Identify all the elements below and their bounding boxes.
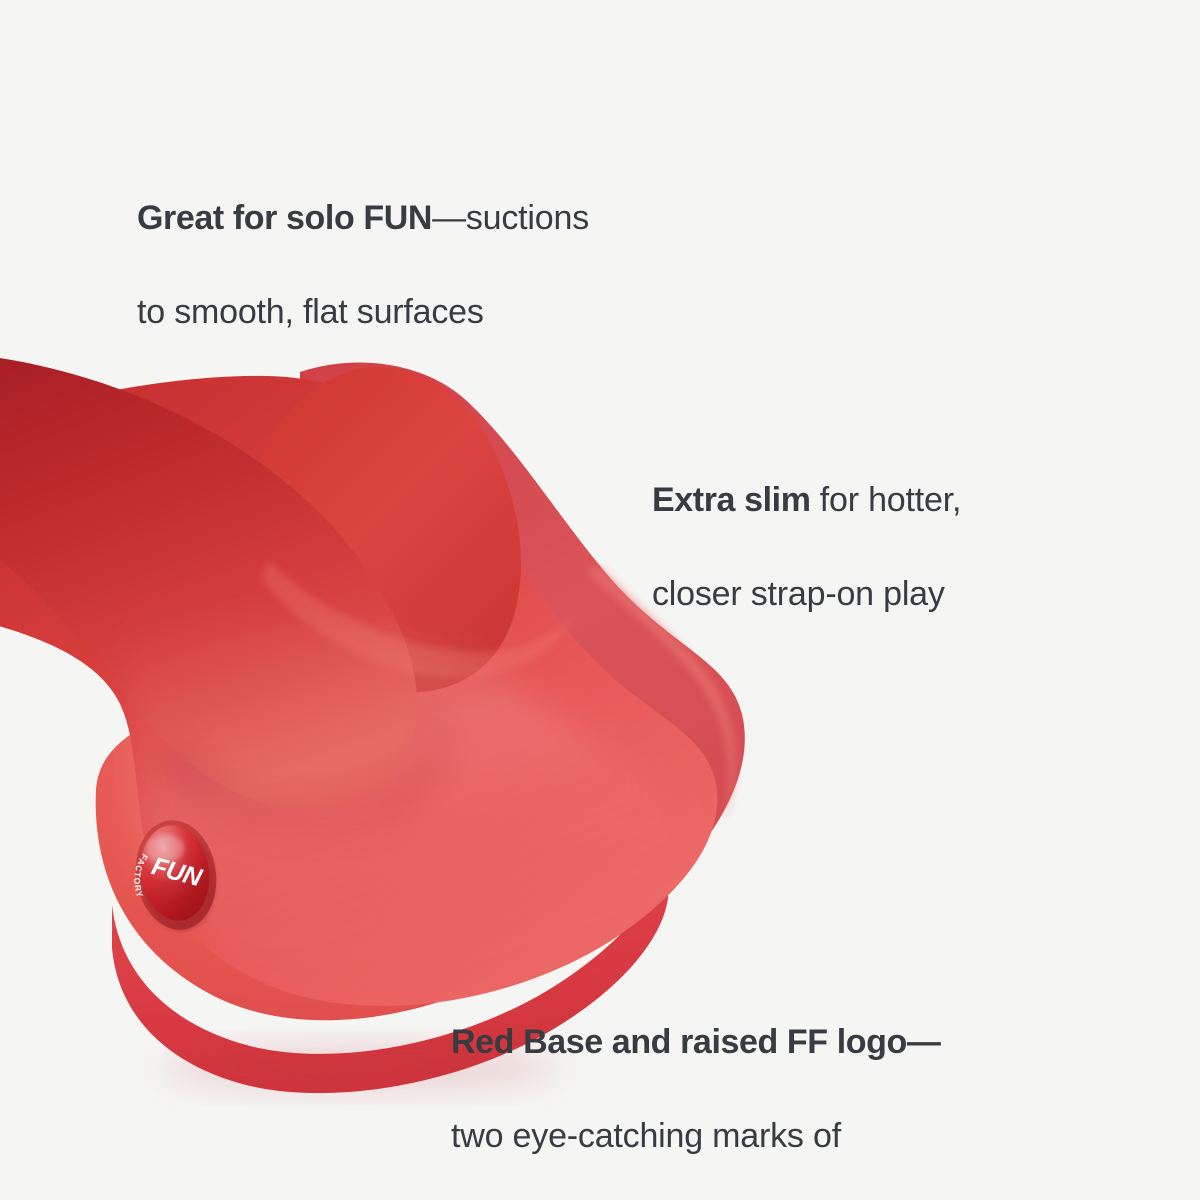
badge-socket bbox=[129, 815, 224, 935]
callout-solo-fun-line1: Great for solo FUN—suctions bbox=[137, 195, 837, 242]
infographic-canvas: FUN FACTORY Great for solo FUN—suctions … bbox=[0, 0, 1200, 1200]
callout-red-base-line1: Red Base and raised FF logo— bbox=[451, 1019, 1111, 1066]
callout-solo-fun-lead: Great for solo FUN bbox=[137, 199, 432, 237]
hump-crease bbox=[262, 560, 576, 678]
shaft-contact-shadow bbox=[166, 706, 440, 851]
badge-gloss bbox=[135, 821, 216, 926]
callout-solo-fun-line2: to smooth, flat surfaces bbox=[137, 289, 837, 336]
product-shaft bbox=[0, 352, 417, 808]
fun-factory-logo-badge: FUN FACTORY bbox=[125, 821, 216, 928]
callout-red-base-lead: Red Base and raised FF logo bbox=[451, 1023, 907, 1061]
callout-extra-slim-line1: Extra slim for hotter, bbox=[652, 477, 1172, 524]
callout-red-base-rest: — bbox=[907, 1023, 941, 1061]
callout-extra-slim-lead: Extra slim bbox=[652, 481, 811, 519]
callout-solo-fun-rest: —suctions bbox=[432, 199, 589, 237]
product-flare-body bbox=[0, 376, 717, 1006]
body-sheen bbox=[120, 620, 700, 978]
callout-extra-slim-line2: closer strap-on play bbox=[652, 571, 1172, 618]
badge-top-shine bbox=[143, 833, 187, 866]
badge-fun-text: FUN bbox=[149, 852, 206, 892]
callout-red-base-line2: two eye-catching marks of bbox=[451, 1113, 1111, 1160]
badge-factory-text: FACTORY bbox=[128, 851, 155, 900]
callout-extra-slim-rest: for hotter, bbox=[811, 481, 962, 519]
badge-body bbox=[135, 821, 216, 926]
product-base-top bbox=[96, 667, 668, 1020]
callout-solo-fun: Great for solo FUN—suctions to smooth, f… bbox=[137, 148, 837, 383]
badge-socket-shadow bbox=[134, 824, 221, 935]
callout-red-base: Red Base and raised FF logo— two eye-cat… bbox=[451, 972, 1111, 1200]
product-neck-hump bbox=[258, 367, 521, 693]
callout-extra-slim: Extra slim for hotter, closer strap-on p… bbox=[652, 430, 1172, 665]
